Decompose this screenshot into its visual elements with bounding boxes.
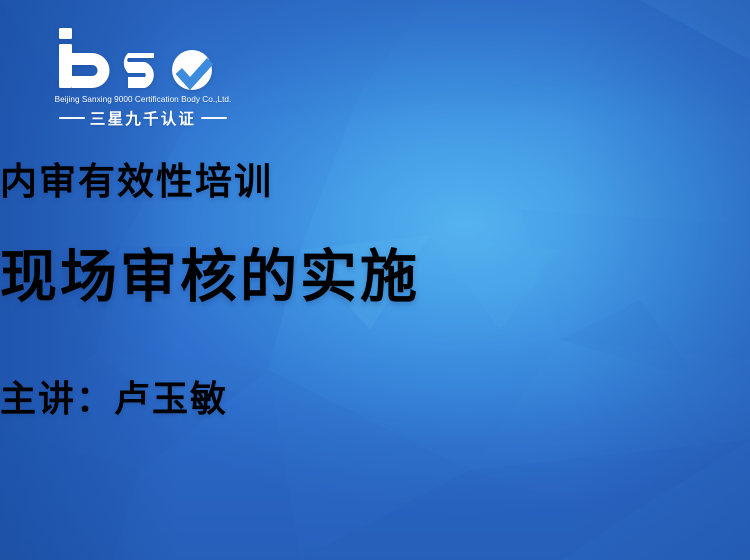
logo-english-name: Beijing Sanxing 9000 Certification Body … (50, 95, 236, 104)
logo-rule-right (201, 117, 227, 119)
bso-checkmark-logo-icon (56, 24, 226, 94)
slide-presenter: 主讲：卢玉敏 (0, 381, 750, 417)
slide-title: 现场审核的实施 (0, 249, 750, 306)
logo-rule-left (59, 117, 85, 119)
logo-chinese-name: 三星九千认证 (90, 107, 196, 129)
presentation-slide: Beijing Sanxing 9000 Certification Body … (0, 0, 750, 560)
logo-chinese-name-row: 三星九千认证 (50, 107, 236, 129)
company-logo: Beijing Sanxing 9000 Certification Body … (50, 24, 236, 129)
slide-subject-line: 内审有效性培训 (0, 163, 750, 200)
